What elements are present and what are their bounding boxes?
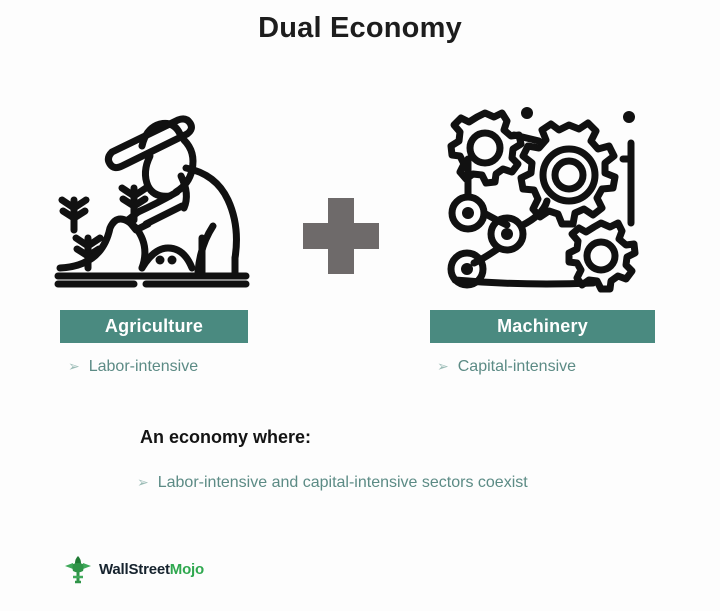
gears-belt-icon [425, 100, 660, 295]
page-title: Dual Economy [0, 12, 720, 45]
bullet-agriculture: ➢ Labor-intensive [68, 358, 198, 376]
label-bar-agriculture: Agriculture [60, 310, 248, 343]
farmer-field-icon [40, 100, 265, 295]
arrow-bullet-icon: ➢ [437, 358, 449, 375]
definition-bullet: ➢ Labor-intensive and capital-intensive … [137, 474, 528, 492]
definition-bullet-label: Labor-intensive and capital-intensive se… [158, 474, 528, 492]
arrow-bullet-icon: ➢ [68, 358, 80, 375]
wallstreetmojo-logo: WallStreetMojo [62, 552, 204, 586]
definition-heading: An economy where: [140, 427, 311, 448]
plus-icon [303, 198, 379, 274]
plus-icon-vertical-bar [328, 198, 354, 274]
logo-text-accent: Mojo [170, 561, 204, 578]
arrow-bullet-icon: ➢ [137, 474, 149, 491]
label-bar-machinery: Machinery [430, 310, 655, 343]
logo-text-primary: WallStreet [99, 561, 170, 578]
wallstreetmojo-wordmark: WallStreetMojo [99, 561, 204, 578]
bullet-agriculture-label: Labor-intensive [89, 358, 198, 376]
wallstreetmojo-bull-icon [62, 553, 94, 585]
bullet-machinery: ➢ Capital-intensive [437, 358, 576, 376]
column-agriculture [40, 100, 265, 295]
slide-canvas: Dual Economy [0, 0, 720, 611]
column-machinery [425, 100, 660, 295]
bullet-machinery-label: Capital-intensive [458, 358, 576, 376]
